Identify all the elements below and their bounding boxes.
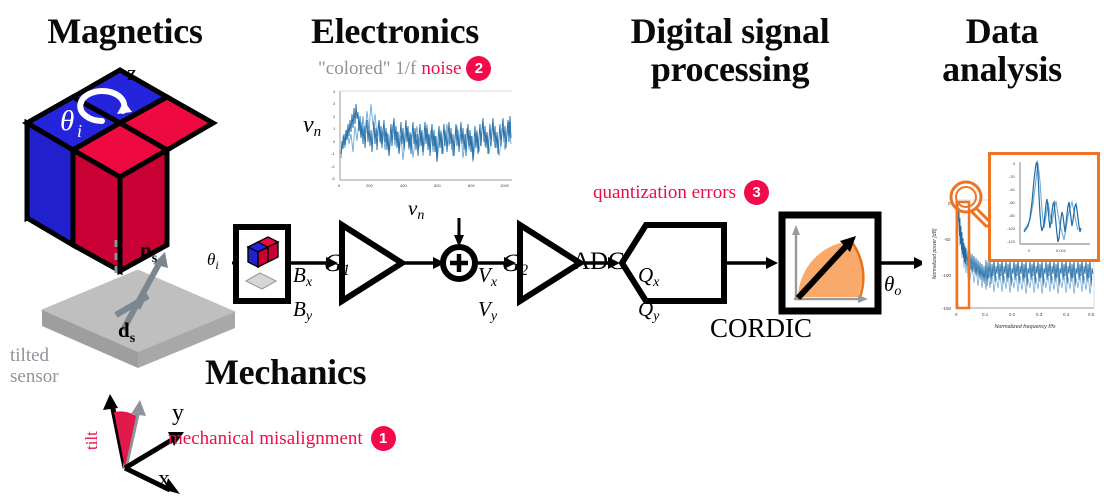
svg-text:0.5: 0.5 xyxy=(1088,312,1095,317)
z-axis-label: z xyxy=(127,60,137,85)
fft-xlabel: Normalized frequency f/fs xyxy=(994,324,1055,330)
svg-text:1000: 1000 xyxy=(500,183,510,188)
annotation-1-badge: 1 xyxy=(371,426,396,451)
vy-subscript: y xyxy=(491,309,497,324)
annotation-2-text-red: noise xyxy=(421,58,461,80)
direction-vector-symbol: d xyxy=(118,318,130,342)
theta-o-subscript: o xyxy=(894,284,901,299)
dsp-title-line2: processing xyxy=(580,50,880,88)
bx-symbol: B xyxy=(293,263,306,287)
noise-plot-ylabel: νn xyxy=(303,112,321,141)
vx-symbol: V xyxy=(478,263,491,287)
direction-vector-label: ds xyxy=(118,318,135,347)
magnetics-title-text: Magnetics xyxy=(47,11,202,51)
svg-text:-150: -150 xyxy=(942,306,952,311)
g1-label: G1 xyxy=(324,250,350,280)
annotation-1-text: mechanical misalignment xyxy=(168,428,363,450)
amplifier-g2[interactable] xyxy=(520,225,580,301)
g2-symbol: G xyxy=(502,250,520,277)
vy-symbol: V xyxy=(478,297,491,321)
svg-text:-20: -20 xyxy=(1009,174,1016,179)
qx-subscript: x xyxy=(653,275,659,290)
input-theta-subscript: i xyxy=(215,258,218,272)
data-title-line1: Data xyxy=(910,12,1094,50)
cube-theta-label: θ xyxy=(60,105,74,137)
vx-subscript: x xyxy=(491,275,497,290)
tilted-sensor-label: tilted sensor xyxy=(10,345,59,387)
svg-text:200: 200 xyxy=(366,183,373,188)
by-subscript: y xyxy=(306,309,312,324)
svg-text:0.4: 0.4 xyxy=(1063,312,1070,317)
tilt-axis-x-label: x xyxy=(158,466,170,492)
tilt-axis-y-label: y xyxy=(172,400,184,426)
tilt-label: tilt xyxy=(82,431,102,450)
tilt-label-wrapper: tilt xyxy=(82,450,101,470)
adc-label-text: ADC xyxy=(572,248,625,275)
section-title-data-analysis: Data analysis xyxy=(910,12,1094,88)
g1-symbol: G xyxy=(324,250,342,277)
data-title-line2: analysis xyxy=(910,50,1094,88)
annotation-3: quantization errors 3 xyxy=(593,180,769,205)
annotation-3-text: quantization errors xyxy=(593,182,736,204)
annotation-3-badge: 3 xyxy=(744,180,769,205)
amplifier-g1[interactable] xyxy=(342,225,402,301)
dsp-title-line1: Digital signal xyxy=(580,12,880,50)
annotation-2-badge: 2 xyxy=(466,56,491,81)
tilted-sensor-label-line1: tilted xyxy=(10,345,59,366)
amp-output-labels: Vx Vy xyxy=(478,262,497,330)
cube-theta-subscript: i xyxy=(77,121,82,141)
normal-vector-label: ns xyxy=(140,238,157,267)
fft-ylabel: Normalized power [dB] xyxy=(932,228,938,279)
svg-text:600: 600 xyxy=(434,183,441,188)
svg-text:-40: -40 xyxy=(1009,187,1016,192)
cordic-label: CORDIC xyxy=(710,313,812,344)
annotation-1: mechanical misalignment 1 xyxy=(168,426,396,451)
svg-text:-80: -80 xyxy=(1009,213,1016,218)
svg-text:0.1: 0.1 xyxy=(982,312,989,317)
g2-label: G2 xyxy=(502,250,528,280)
tilted-sensor-label-line2: sensor xyxy=(10,366,59,387)
svg-text:0.002: 0.002 xyxy=(1056,248,1067,253)
annotation-2-text-gray: "colored" 1/f xyxy=(318,58,416,80)
direction-vector-subscript: s xyxy=(130,331,135,346)
svg-text:-50: -50 xyxy=(944,237,951,242)
svg-text:-100: -100 xyxy=(942,273,952,278)
input-theta-label: θi xyxy=(207,250,219,273)
svg-text:-100: -100 xyxy=(1007,226,1016,231)
sensor-output-labels: Bx By xyxy=(293,262,312,330)
electronics-title-text: Electronics xyxy=(311,11,479,51)
svg-text:800: 800 xyxy=(468,183,475,188)
svg-text:0.3: 0.3 xyxy=(1036,312,1043,317)
noise-ylabel-symbol: ν xyxy=(303,112,314,138)
theta-o-symbol: θ xyxy=(884,272,894,296)
section-title-magnetics: Magnetics xyxy=(10,12,240,50)
section-title-dsp: Digital signal processing xyxy=(580,12,880,88)
svg-text:0.2: 0.2 xyxy=(1009,312,1016,317)
cordic-output-label: θo xyxy=(884,272,901,300)
g2-subscript: 2 xyxy=(520,262,528,279)
noise-plot: 432 10-1 -2-3 0200400 6008001000 xyxy=(300,86,530,196)
qy-subscript: y xyxy=(653,309,659,324)
cordic-label-text: CORDIC xyxy=(710,313,812,343)
adc-output-labels: Qx Qy xyxy=(638,262,659,330)
fft-inset-plot: 0 -20 -40 -60 -80 -100 -120 00.002 xyxy=(988,152,1100,262)
tilt-axis-x xyxy=(125,468,180,494)
section-title-electronics: Electronics xyxy=(270,12,520,50)
adc-label: ADC xyxy=(572,248,625,276)
qx-symbol: Q xyxy=(638,263,653,287)
annotation-2: "colored" 1/f noise 2 xyxy=(318,56,491,81)
svg-text:-60: -60 xyxy=(1009,200,1016,205)
normal-vector-symbol: n xyxy=(140,238,152,262)
by-symbol: B xyxy=(293,297,306,321)
normal-vector-subscript: s xyxy=(152,251,157,266)
noise-ylabel-subscript: n xyxy=(314,124,322,140)
bx-subscript: x xyxy=(306,275,312,290)
arrowhead-cordic-in xyxy=(766,257,778,269)
svg-text:-120: -120 xyxy=(1007,239,1016,244)
g1-subscript: 1 xyxy=(342,262,350,279)
qy-symbol: Q xyxy=(638,297,653,321)
svg-text:400: 400 xyxy=(400,183,407,188)
